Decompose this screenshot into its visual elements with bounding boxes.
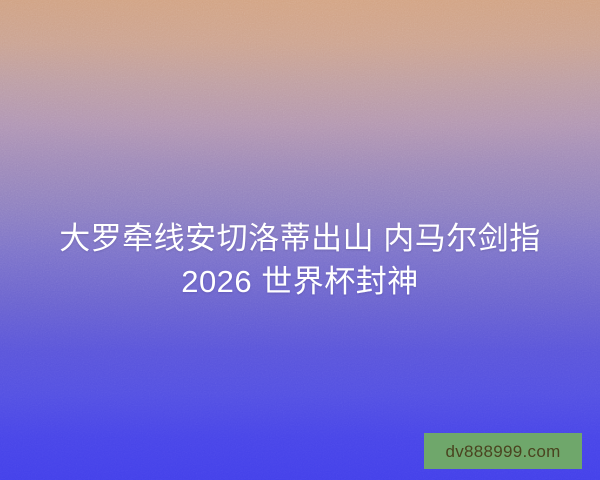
article-cover-card: 大罗牵线安切洛蒂出山 内马尔剑指 2026 世界杯封神 dv888999.com	[0, 0, 600, 480]
watermark-badge: dv888999.com	[424, 433, 582, 469]
watermark-url-text: dv888999.com	[445, 443, 560, 460]
page-title: 大罗牵线安切洛蒂出山 内马尔剑指 2026 世界杯封神	[0, 217, 600, 303]
